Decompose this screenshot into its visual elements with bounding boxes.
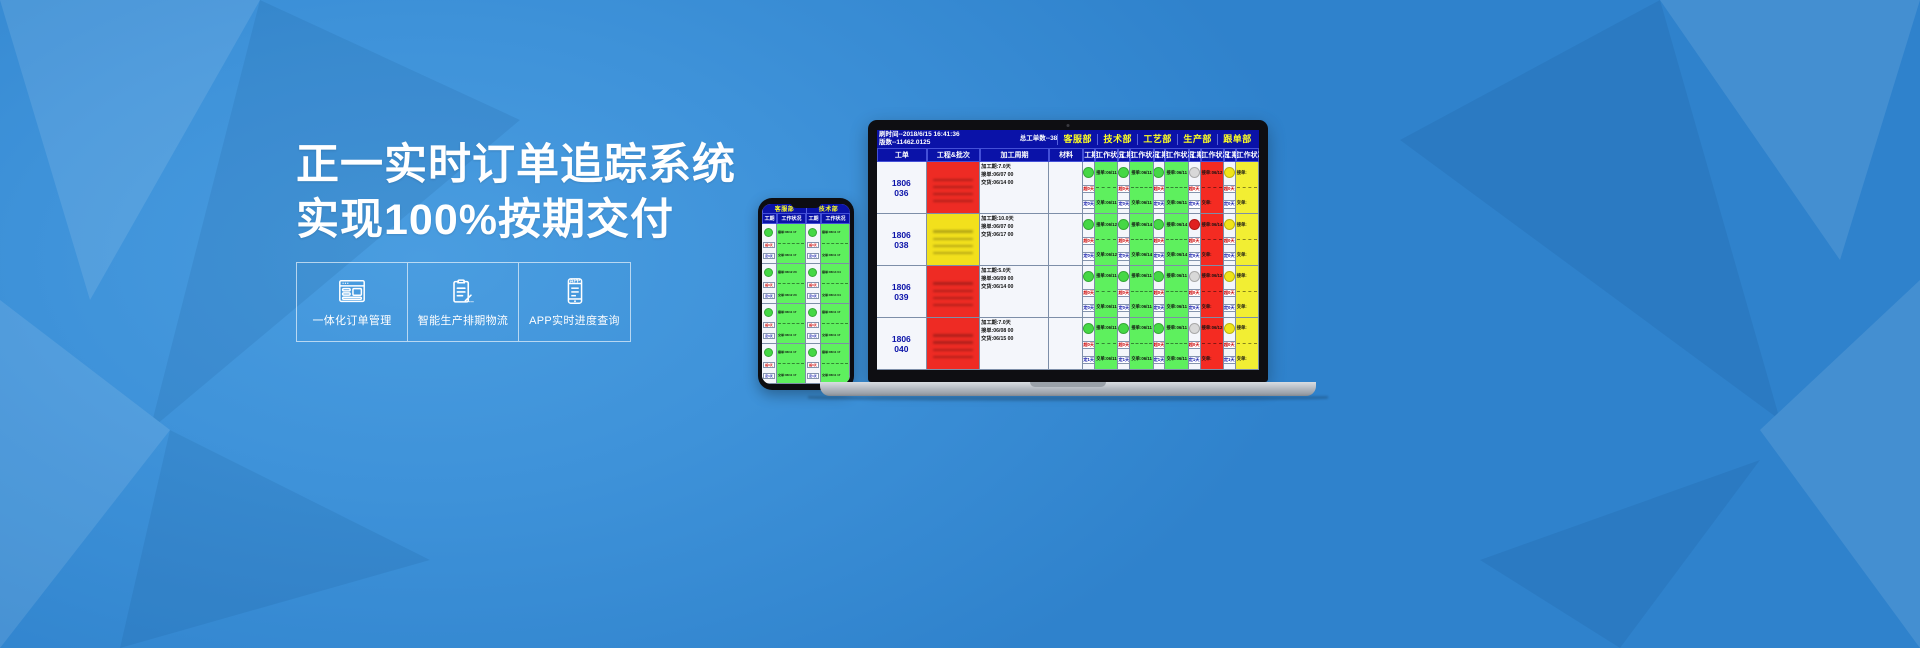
divider (1096, 239, 1116, 240)
status-delivered: 交单:06/11 17 (1096, 356, 1116, 362)
processing-cycle-cell: 加工期:7.0天接单:06/07 00交货:06/14 00 (980, 162, 1049, 213)
laptop-shadow (808, 396, 1328, 401)
work-status-cell: 接单:06/14 04交单:06/14 04 (1165, 214, 1188, 265)
duration-tag: 超0天 (1118, 237, 1130, 245)
divider (1131, 343, 1151, 344)
status-indicator-dot (1118, 271, 1129, 282)
status-indicator-dot (1118, 323, 1129, 334)
duration-tag: 超0天 (763, 282, 775, 288)
duration-cell: 超0天定0天 (762, 224, 777, 263)
duration-tag: 超0天 (1154, 341, 1166, 349)
laptop-notch (1030, 382, 1106, 387)
cycle-line: 接单:06/09 00 (981, 276, 1047, 284)
status-delivered: 交单: (1237, 252, 1257, 258)
duration-cell: 超0天定1天 (1224, 318, 1236, 369)
duration-cell: 超0天定1天 (1189, 318, 1201, 369)
work-status-cell: 接单:06/14 04交单:06/14 04 (821, 264, 850, 303)
divider (1166, 291, 1186, 292)
department-header: 跟单部 (1217, 134, 1257, 145)
work-status-cell: 接单:06/12 09交单: (1201, 162, 1224, 213)
phone-notch (791, 202, 821, 208)
duration-tag: 超0天 (763, 362, 775, 368)
divider (1202, 187, 1222, 188)
redacted-text (933, 238, 973, 241)
project-batch-cell (927, 318, 980, 369)
duration-tag: 定0天 (1224, 200, 1236, 208)
status-received: 接单:06/14 04 (1131, 222, 1151, 228)
processing-cycle-cell: 加工期:10.0天接单:06/07 00交货:06/17 00 (980, 214, 1049, 265)
duration-tag: 定0天 (1189, 304, 1201, 312)
redacted-text (933, 193, 973, 196)
redacted-text (933, 179, 973, 182)
divider (1131, 239, 1151, 240)
divider (1202, 239, 1222, 240)
status-indicator-dot (808, 308, 817, 317)
feature-label: 一体化订单管理 (312, 312, 391, 328)
duration-tag: 超0天 (807, 362, 819, 368)
page-title: 正一实时订单追踪系统 实现100%按期交付 (296, 138, 716, 248)
duration-cell: 超0天定0天 (1083, 214, 1095, 265)
status-delivered: 交单: (1237, 200, 1257, 206)
poly-decor-right (1360, 0, 1920, 648)
redacted-text (933, 334, 973, 337)
duration-tag: 定0天 (807, 293, 819, 299)
duration-tag: 定0天 (1154, 304, 1166, 312)
clipboard-pen-icon (448, 276, 478, 306)
duration-tag: 超0天 (807, 242, 819, 248)
column-header[interactable]: 工期 (1154, 148, 1166, 162)
status-delivered: 交单:06/11 17 (778, 373, 804, 377)
divider (822, 363, 848, 364)
divider (1096, 343, 1116, 344)
work-status-cell: 接单:06/11 17交单:06/11 17 (1095, 266, 1118, 317)
material-cell (1049, 214, 1083, 265)
feature-item-app-progress-query[interactable]: APP APP实时进度查询 (519, 263, 630, 341)
divider (1237, 187, 1257, 188)
status-delivered: 交单:06/11 17 (1166, 200, 1186, 206)
duration-tag: 定0天 (1118, 304, 1130, 312)
duration-cell: 超0天定0天 (806, 264, 821, 303)
duration-tag: 超0天 (1083, 341, 1095, 349)
material-cell (1049, 266, 1083, 317)
processing-cycle-cell: 加工期:7.0天接单:06/08 00交货:06/15 00 (980, 318, 1049, 369)
duration-tag: 超0天 (1189, 185, 1201, 193)
work-status-cell: 接单:06/11 17交单:06/11 17 (1095, 318, 1118, 369)
status-received: 接单:06/12 20 (778, 270, 804, 274)
duration-cell: 超0天定0天 (1224, 214, 1236, 265)
duration-cell: 超0天定0天 (806, 304, 821, 343)
duration-tag: 定0天 (1224, 304, 1236, 312)
divider (778, 323, 804, 324)
status-received: 接单:06/12 09 (1202, 170, 1222, 176)
material-cell (1049, 162, 1083, 213)
status-received: 接单:06/11 17 (778, 230, 804, 234)
duration-cell: 超0天定1天 (1083, 318, 1095, 369)
duration-tag: 定1天 (807, 373, 819, 379)
redacted-text (933, 186, 973, 189)
duration-cell: 超0天定1天 (1154, 318, 1166, 369)
status-received: 接单:06/12 09 (1202, 325, 1222, 331)
column-header[interactable]: 工作状况 (821, 213, 850, 224)
divider (1237, 239, 1257, 240)
duration-tag: 定0天 (1083, 252, 1095, 260)
duration-tag: 超0天 (1189, 237, 1201, 245)
status-indicator-dot (1154, 271, 1165, 282)
duration-tag: 超0天 (1118, 185, 1130, 193)
table-body: 1806036加工期:7.0天接单:06/07 00交货:06/14 00超0天… (877, 162, 1259, 370)
department-header: 技术部 (1097, 134, 1137, 145)
column-header[interactable]: 工期 (1118, 148, 1130, 162)
status-delivered: 交单:06/11 17 (822, 373, 848, 377)
work-status-cell: 接单:06/11 17交单:06/11 17 (777, 224, 806, 263)
feature-list: 一体化订单管理 智能生产排期物流 (296, 262, 631, 342)
column-header[interactable]: 工期 (806, 213, 821, 224)
cycle-line: 交货:06/14 00 (981, 180, 1047, 188)
status-delivered: 交单:06/14 04 (822, 293, 848, 297)
divider (1096, 291, 1116, 292)
status-indicator-dot (1154, 323, 1165, 334)
phone-screen[interactable]: 客服部技术部工期工作状况工期工作状况超0天定0天接单:06/11 17交单:06… (762, 204, 850, 384)
divider (822, 323, 848, 324)
status-received: 接单:06/14 04 (822, 270, 848, 274)
version-label: 版数--11462.0125 (879, 139, 1004, 147)
status-received: 接单:06/12 20 (1096, 222, 1116, 228)
divider (1237, 343, 1257, 344)
duration-cell: 超0天定0天 (806, 224, 821, 263)
feature-label: APP实时进度查询 (529, 312, 620, 328)
duration-tag: 定1天 (1224, 356, 1236, 364)
duration-cell: 超0天定0天 (762, 264, 777, 303)
status-delivered: 交单:06/11 17 (1131, 304, 1151, 310)
work-status-cell: 接单:06/11 17交单:06/11 17 (1165, 318, 1188, 369)
duration-tag: 定0天 (763, 333, 775, 339)
divider (1131, 187, 1151, 188)
work-status-cell: 接单:交单: (1236, 318, 1259, 369)
status-indicator-dot (808, 348, 817, 357)
duration-tag: 定1天 (1189, 356, 1201, 364)
column-header[interactable]: 工作状况 (1095, 148, 1118, 162)
divider (1202, 291, 1222, 292)
duration-cell: 超0天定0天 (1083, 266, 1095, 317)
duration-tag: 超0天 (807, 322, 819, 328)
status-delivered: 交单:06/11 17 (1096, 304, 1116, 310)
column-header[interactable]: 工作状况 (1130, 148, 1153, 162)
status-received: 接单:06/11 17 (1166, 273, 1186, 279)
duration-tag: 超0天 (1083, 237, 1095, 245)
status-received: 接单: (1237, 170, 1257, 176)
status-received: 接单:06/11 17 (1096, 325, 1116, 331)
phone-mockup: 客服部技术部工期工作状况工期工作状况超0天定0天接单:06/11 17交单:06… (758, 198, 854, 390)
table-row[interactable]: 1806039加工期:5.0天接单:06/09 00交货:06/14 00超0天… (877, 266, 1259, 318)
project-batch-cell (927, 162, 980, 213)
project-batch-cell (927, 266, 980, 317)
cycle-line: 接单:06/07 00 (981, 224, 1047, 232)
status-delivered: 交单:06/11 17 (1131, 200, 1151, 206)
redacted-text (933, 200, 973, 203)
department-header: 客服部 (1057, 134, 1097, 145)
status-received: 接单:06/11 17 (822, 310, 848, 314)
status-received: 接单:06/11 17 (1166, 325, 1186, 331)
duration-cell: 超0天定0天 (1154, 266, 1166, 317)
work-status-cell: 接单:交单: (1236, 162, 1259, 213)
duration-tag: 超0天 (763, 322, 775, 328)
divider (1237, 291, 1257, 292)
phone-body: 客服部技术部工期工作状况工期工作状况超0天定0天接单:06/11 17交单:06… (758, 198, 854, 390)
cycle-line: 接单:06/07 00 (981, 172, 1047, 180)
column-header[interactable]: 工作状况 (1165, 148, 1188, 162)
redacted-text (933, 297, 973, 300)
table-row[interactable]: 超0天定1天接单:06/11 17交单:06/11 17超0天定1天接单:06/… (762, 344, 850, 384)
laptop-base (820, 382, 1316, 396)
status-received: 接单:06/14 14 (1202, 222, 1222, 228)
column-header[interactable]: 工作状况 (1201, 148, 1224, 162)
work-status-cell: 接单:交单: (1236, 214, 1259, 265)
redacted-text (933, 356, 973, 359)
column-header[interactable]: 材料 (1049, 148, 1083, 162)
column-header[interactable]: 工作状况 (777, 213, 806, 224)
feature-item-production-scheduling[interactable]: 智能生产排期物流 (408, 263, 519, 341)
work-status-cell: 接单:06/11 17交单:06/11 17 (1130, 318, 1153, 369)
divider (778, 363, 804, 364)
column-header[interactable]: 工期 (1189, 148, 1201, 162)
order-number-cell: 1806038 (877, 214, 927, 265)
divider (778, 243, 804, 244)
status-delivered: 交单:06/14 04 (1166, 252, 1186, 258)
duration-tag: 定0天 (807, 333, 819, 339)
redacted-text (933, 230, 973, 233)
status-delivered: 交单: (1237, 304, 1257, 310)
status-indicator-dot (1189, 167, 1200, 178)
status-received: 接单:06/11 17 (1131, 325, 1151, 331)
divider (822, 243, 848, 244)
table-row[interactable]: 1806038加工期:10.0天接单:06/07 00交货:06/17 00超0… (877, 214, 1259, 266)
duration-tag: 定1天 (763, 373, 775, 379)
status-delivered: 交单: (1202, 200, 1222, 206)
duration-cell: 超0天定0天 (1154, 162, 1166, 213)
status-delivered: 交单: (1202, 356, 1222, 362)
duration-tag: 定0天 (1154, 200, 1166, 208)
duration-cell: 超0天定0天 (1118, 162, 1130, 213)
order-number-cell: 1806036 (877, 162, 927, 213)
cycle-line: 交货:06/17 00 (981, 232, 1047, 240)
status-indicator-dot (808, 228, 817, 237)
duration-tag: 定0天 (1083, 200, 1095, 208)
redacted-text (933, 252, 973, 255)
work-status-cell: 接单:06/11 17交单:06/11 17 (1165, 162, 1188, 213)
svg-text:APP: APP (569, 279, 580, 285)
column-header[interactable]: 工程&批次 (927, 148, 980, 162)
status-indicator-dot (1189, 323, 1200, 334)
status-delivered: 交单:06/11 17 (1096, 200, 1116, 206)
duration-tag: 超0天 (1154, 289, 1166, 297)
total-orders-label: 总工单数--38 (1020, 135, 1058, 143)
duration-tag: 定0天 (763, 293, 775, 299)
duration-cell: 超0天定0天 (1154, 214, 1166, 265)
duration-cell: 超0天定0天 (1083, 162, 1095, 213)
headline-line-1: 正一实时订单追踪系统 (296, 141, 736, 189)
duration-cell: 超0天定1天 (1118, 318, 1130, 369)
status-delivered: 交单: (1202, 304, 1222, 310)
table-row[interactable]: 超0天定0天接单:06/11 17交单:06/11 17超0天定0天接单:06/… (762, 304, 850, 344)
duration-cell: 超0天定0天 (1118, 214, 1130, 265)
project-batch-cell (927, 214, 980, 265)
duration-cell: 超0天定0天 (1189, 162, 1201, 213)
status-delivered: 交单:06/11 17 (778, 253, 804, 257)
laptop-screen[interactable]: 刷时间--2018/6/15 16:41:36版数--11462.0125总工单… (877, 130, 1259, 370)
duration-tag: 超0天 (1118, 289, 1130, 297)
table-body: 超0天定0天接单:06/11 17交单:06/11 17超0天定0天接单:06/… (762, 224, 850, 384)
status-received: 接单:06/12 09 (1202, 273, 1222, 279)
table-header-row: 工单工程&批次加工周期材料工期工作状况工期工作状况工期工作状况工期工作状况工期工… (877, 148, 1259, 162)
duration-tag: 超0天 (807, 282, 819, 288)
duration-tag: 超0天 (1224, 289, 1236, 297)
duration-tag: 定1天 (1083, 356, 1095, 364)
table-row[interactable]: 超0天定0天接单:06/11 17交单:06/11 17超0天定0天接单:06/… (762, 224, 850, 264)
status-received: 接单:06/11 17 (822, 230, 848, 234)
cycle-line: 交货:06/15 00 (981, 336, 1047, 344)
status-indicator-dot (1189, 219, 1200, 230)
duration-tag: 定0天 (1154, 252, 1166, 260)
status-delivered: 交单: (1237, 356, 1257, 362)
redacted-text (933, 341, 973, 344)
status-indicator-dot (764, 268, 773, 277)
table-header-row: 工期工作状况工期工作状况 (762, 213, 850, 224)
dashboard-phone: 客服部技术部工期工作状况工期工作状况超0天定0天接单:06/11 17交单:06… (762, 204, 850, 384)
duration-tag: 超0天 (1118, 341, 1130, 349)
department-header: 生产部 (1177, 134, 1217, 145)
work-status-cell: 接单:06/11 17交单:06/11 17 (821, 224, 850, 263)
status-indicator-dot (764, 308, 773, 317)
column-header[interactable]: 工期 (1083, 148, 1095, 162)
status-delivered: 交单:06/12 20 (778, 293, 804, 297)
cycle-line: 加工期:10.0天 (981, 216, 1047, 224)
status-received: 接单: (1237, 273, 1257, 279)
status-indicator-dot (1189, 271, 1200, 282)
column-header[interactable]: 工期 (1224, 148, 1236, 162)
duration-tag: 超0天 (1224, 185, 1236, 193)
status-received: 接单:06/11 17 (778, 310, 804, 314)
cycle-line: 加工期:5.0天 (981, 268, 1047, 276)
work-status-cell: 接单:06/11 17交单:06/11 17 (1130, 266, 1153, 317)
status-indicator-dot (808, 268, 817, 277)
redacted-text (933, 245, 973, 248)
feature-label: 智能生产排期物流 (418, 312, 508, 328)
status-delivered: 交单:06/11 17 (822, 253, 848, 257)
work-status-cell: 接单:06/14 14交单: (1201, 214, 1224, 265)
mobile-app-icon: APP (560, 276, 590, 306)
duration-tag: 定0天 (1083, 304, 1095, 312)
status-received: 接单: (1237, 222, 1257, 228)
status-received: 接单:06/11 17 (778, 350, 804, 354)
duration-tag: 超0天 (763, 242, 775, 248)
promo-copy: 正一实时订单追踪系统 实现100%按期交付 (296, 138, 716, 248)
cycle-line: 加工期:7.0天 (981, 164, 1047, 172)
duration-tag: 超0天 (1189, 341, 1201, 349)
work-status-cell: 接单:06/11 17交单:06/11 17 (821, 304, 850, 343)
duration-tag: 定1天 (1154, 356, 1166, 364)
processing-cycle-cell: 加工期:5.0天接单:06/09 00交货:06/14 00 (980, 266, 1049, 317)
redacted-text (933, 349, 973, 352)
dashboard-topbar: 刷时间--2018/6/15 16:41:36版数--11462.0125总工单… (877, 130, 1259, 148)
material-cell (1049, 318, 1083, 369)
cycle-line: 交货:06/14 00 (981, 284, 1047, 292)
work-status-cell: 接单:06/11 17交单:06/11 17 (1095, 162, 1118, 213)
status-received: 接单:06/11 17 (1096, 170, 1116, 176)
duration-tag: 定1天 (1118, 356, 1130, 364)
cycle-line: 接单:06/08 00 (981, 328, 1047, 336)
divider (1166, 187, 1186, 188)
duration-tag: 超0天 (1224, 237, 1236, 245)
status-indicator-dot (1154, 219, 1165, 230)
status-indicator-dot (1083, 323, 1094, 334)
status-received: 接单:06/11 17 (1096, 273, 1116, 279)
work-status-cell: 接单:06/11 17交单:06/11 17 (777, 344, 806, 383)
status-received: 接单:06/11 17 (1166, 170, 1186, 176)
duration-tag: 定0天 (1118, 252, 1130, 260)
table-row[interactable]: 1806040加工期:7.0天接单:06/08 00交货:06/15 00超0天… (877, 318, 1259, 370)
table-row[interactable]: 1806036加工期:7.0天接单:06/07 00交货:06/14 00超0天… (877, 162, 1259, 214)
status-indicator-dot (1118, 167, 1129, 178)
duration-tag: 超0天 (1083, 289, 1095, 297)
status-delivered: 交单:06/12 20 (1096, 252, 1116, 258)
table-row[interactable]: 超0天定0天接单:06/12 20交单:06/12 20超0天定0天接单:06/… (762, 264, 850, 304)
duration-tag: 超0天 (1154, 185, 1166, 193)
duration-cell: 超0天定0天 (1224, 266, 1236, 317)
duration-tag: 定0天 (1224, 252, 1236, 260)
work-status-cell: 接单:06/14 04交单:06/14 04 (1130, 214, 1153, 265)
status-received: 接单: (1237, 325, 1257, 331)
work-status-cell: 接单:06/12 20交单:06/12 20 (777, 264, 806, 303)
duration-tag: 超0天 (1189, 289, 1201, 297)
department-header: 工艺部 (1137, 134, 1177, 145)
status-delivered: 交单:06/11 17 (822, 333, 848, 337)
duration-cell: 超0天定0天 (1118, 266, 1130, 317)
status-indicator-dot (1224, 271, 1235, 282)
webcam-icon (1067, 124, 1070, 127)
redacted-text (933, 282, 973, 285)
duration-cell: 超0天定0天 (1189, 214, 1201, 265)
order-number-cell: 1806039 (877, 266, 927, 317)
feature-item-order-management[interactable]: 一体化订单管理 (297, 263, 408, 341)
duration-tag: 定0天 (807, 253, 819, 259)
column-header[interactable]: 加工周期 (980, 148, 1049, 162)
duration-cell: 超0天定1天 (806, 344, 821, 383)
status-indicator-dot (1083, 271, 1094, 282)
duration-tag: 定0天 (763, 253, 775, 259)
work-status-cell: 接单:06/12 09交单: (1201, 266, 1224, 317)
promo-banner: 正一实时订单追踪系统 实现100%按期交付 一体化订单管理 (0, 0, 1920, 648)
column-header[interactable]: 工单 (877, 148, 927, 162)
status-indicator-dot (1224, 167, 1235, 178)
duration-cell: 超0天定0天 (1224, 162, 1236, 213)
work-status-cell: 接单:交单: (1236, 266, 1259, 317)
column-header[interactable]: 工期 (762, 213, 777, 224)
order-number-cell: 1806040 (877, 318, 927, 369)
work-status-cell: 接单:06/11 17交单:06/11 17 (1165, 266, 1188, 317)
device-mockups: 客服部技术部工期工作状况工期工作状况超0天定0天接单:06/11 17交单:06… (748, 110, 1368, 430)
duration-tag: 定0天 (1189, 200, 1201, 208)
status-delivered: 交单: (1202, 252, 1222, 258)
redacted-text (933, 290, 973, 293)
status-received: 接单:06/14 04 (1166, 222, 1186, 228)
status-indicator-dot (1083, 219, 1094, 230)
laptop-mockup: 刷时间--2018/6/15 16:41:36版数--11462.0125总工单… (868, 120, 1268, 401)
column-header[interactable]: 工作状况 (1236, 148, 1259, 162)
status-indicator-dot (764, 228, 773, 237)
browser-window-icon (337, 276, 367, 306)
work-status-cell: 接单:06/12 09交单: (1201, 318, 1224, 369)
status-indicator-dot (764, 348, 773, 357)
